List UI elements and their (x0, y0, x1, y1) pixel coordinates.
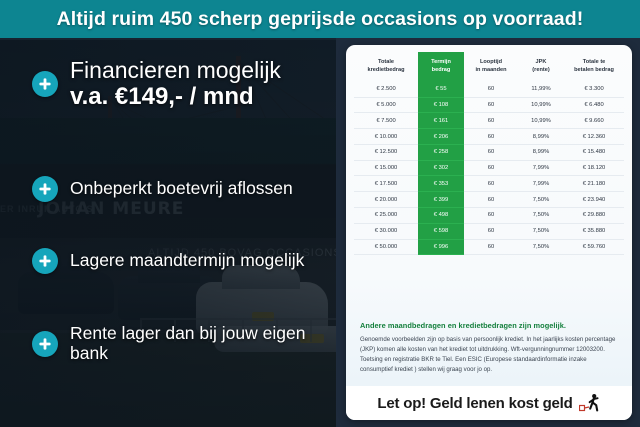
benefit-line-1: Financieren mogelijk (70, 57, 281, 83)
benefits-list: Financieren mogelijk v.a. €149,- / mnd O… (0, 44, 346, 427)
cell-jkp: 7,99% (518, 176, 564, 192)
cell-looptijd: 60 (464, 192, 518, 208)
headline-banner: Altijd ruim 450 scherp geprijsde occasio… (0, 0, 640, 38)
cell-jkp: 8,99% (518, 129, 564, 145)
table-row: € 30.000€ 598607,50%€ 35.880 (354, 223, 624, 239)
advertisement-banner: ER INRUILAUTO'S JOHAN MEURE ALTIJD 450 B… (0, 0, 640, 427)
cell-looptijd: 60 (464, 160, 518, 176)
cell-totaal: € 9.660 (564, 113, 624, 129)
benefit-text-financing: Financieren mogelijk v.a. €149,- / mnd (70, 58, 281, 111)
cell-looptijd: 60 (464, 176, 518, 192)
legal-warning-text: Let op! Geld lenen kost geld (377, 395, 572, 412)
cell-jkp: 7,50% (518, 239, 564, 255)
cell-krediet: € 15.000 (354, 160, 418, 176)
plus-icon (32, 71, 58, 97)
table-row: € 20.000€ 399607,50%€ 23.940 (354, 192, 624, 208)
table-row: € 5.000€ 1086010,99%€ 6.480 (354, 97, 624, 113)
cell-looptijd: 60 (464, 208, 518, 224)
cell-looptijd: 60 (464, 223, 518, 239)
cell-looptijd: 60 (464, 239, 518, 255)
cell-krediet: € 5.000 (354, 97, 418, 113)
cell-termijn: € 302 (418, 160, 464, 176)
benefit-item-financing: Financieren mogelijk v.a. €149,- / mnd (32, 58, 281, 111)
cell-termijn: € 108 (418, 97, 464, 113)
cell-termijn: € 161 (418, 113, 464, 129)
cell-totaal: € 18.120 (564, 160, 624, 176)
table-row: € 7.500€ 1616010,99%€ 9.660 (354, 113, 624, 129)
running-man-ball-and-chain-icon (579, 393, 601, 413)
cell-krediet: € 30.000 (354, 223, 418, 239)
table-row: € 25.000€ 498607,50%€ 29.880 (354, 208, 624, 224)
cell-jkp: 8,99% (518, 144, 564, 160)
benefit-item-lower-instalment: Lagere maandtermijn mogelijk (32, 248, 304, 274)
cell-termijn: € 996 (418, 239, 464, 255)
cell-totaal: € 29.880 (564, 208, 624, 224)
table-row: € 2.500€ 556011,99%€ 3.300 (354, 82, 624, 97)
cell-krediet: € 7.500 (354, 113, 418, 129)
cell-looptijd: 60 (464, 144, 518, 160)
cell-termijn: € 55 (418, 82, 464, 97)
column-header-looptijd: Looptijd in maanden (464, 52, 518, 82)
cell-termijn: € 353 (418, 176, 464, 192)
cell-totaal: € 59.760 (564, 239, 624, 255)
benefit-line-2: v.a. €149,- / mnd (70, 83, 254, 110)
plus-icon (32, 176, 58, 202)
cell-termijn: € 498 (418, 208, 464, 224)
cell-totaal: € 12.360 (564, 129, 624, 145)
cell-totaal: € 35.880 (564, 223, 624, 239)
cell-jkp: 7,50% (518, 208, 564, 224)
disclaimer-heading: Andere maandbedragen en kredietbedragen … (360, 321, 618, 330)
cell-krediet: € 12.500 (354, 144, 418, 160)
benefit-text-lower-interest: Rente lager dan bij jouw eigen bank (70, 324, 346, 363)
legal-warning-bar: Let op! Geld lenen kost geld (346, 386, 632, 420)
cell-termijn: € 399 (418, 192, 464, 208)
cell-totaal: € 6.480 (564, 97, 624, 113)
cell-krediet: € 10.000 (354, 129, 418, 145)
disclaimer-block: Andere maandbedragen en kredietbedragen … (360, 321, 618, 374)
cell-termijn: € 258 (418, 144, 464, 160)
cell-totaal: € 21.180 (564, 176, 624, 192)
table-row: € 10.000€ 206608,99%€ 12.360 (354, 129, 624, 145)
table-row: € 15.000€ 302607,99%€ 18.120 (354, 160, 624, 176)
table-row: € 12.500€ 258608,99%€ 15.480 (354, 144, 624, 160)
benefit-item-penalty-free: Onbeperkt boetevrij aflossen (32, 176, 293, 202)
cell-jkp: 7,50% (518, 223, 564, 239)
cell-looptijd: 60 (464, 97, 518, 113)
cell-termijn: € 206 (418, 129, 464, 145)
table-row: € 50.000€ 996607,50%€ 59.760 (354, 239, 624, 255)
cell-jkp: 7,99% (518, 160, 564, 176)
cell-totaal: € 3.300 (564, 82, 624, 97)
plus-icon (32, 248, 58, 274)
column-header-krediet: Totale kredietbedrag (354, 52, 418, 82)
cell-looptijd: 60 (464, 129, 518, 145)
table-row: € 17.500€ 353607,99%€ 21.180 (354, 176, 624, 192)
cell-krediet: € 25.000 (354, 208, 418, 224)
cell-jkp: 11,99% (518, 82, 564, 97)
cell-krediet: € 20.000 (354, 192, 418, 208)
cell-jkp: 7,50% (518, 192, 564, 208)
disclaimer-body: Genoemde voorbeelden zijn op basis van p… (360, 335, 618, 374)
cell-termijn: € 598 (418, 223, 464, 239)
column-header-termijn: Termijn bedrag (418, 52, 464, 82)
cell-krediet: € 17.500 (354, 176, 418, 192)
rate-card: Totale kredietbedrag Termijn bedrag Loop… (346, 45, 632, 420)
column-header-totaal: Totale te betalen bedrag (564, 52, 624, 82)
cell-looptijd: 60 (464, 82, 518, 97)
cell-jkp: 10,99% (518, 113, 564, 129)
cell-krediet: € 50.000 (354, 239, 418, 255)
plus-icon (32, 331, 58, 357)
cell-jkp: 10,99% (518, 97, 564, 113)
column-header-jkp: JPK (rente) (518, 52, 564, 82)
cell-krediet: € 2.500 (354, 82, 418, 97)
benefit-text-lower-instalment: Lagere maandtermijn mogelijk (70, 251, 304, 271)
rate-table-body: € 2.500€ 556011,99%€ 3.300€ 5.000€ 10860… (354, 82, 624, 255)
benefit-item-lower-interest: Rente lager dan bij jouw eigen bank (32, 324, 346, 363)
headline-text: Altijd ruim 450 scherp geprijsde occasio… (57, 8, 584, 31)
table-header-row: Totale kredietbedrag Termijn bedrag Loop… (354, 52, 624, 82)
benefit-text-penalty-free: Onbeperkt boetevrij aflossen (70, 179, 293, 199)
cell-totaal: € 15.480 (564, 144, 624, 160)
cell-totaal: € 23.940 (564, 192, 624, 208)
cell-looptijd: 60 (464, 113, 518, 129)
rate-table: Totale kredietbedrag Termijn bedrag Loop… (354, 52, 624, 255)
